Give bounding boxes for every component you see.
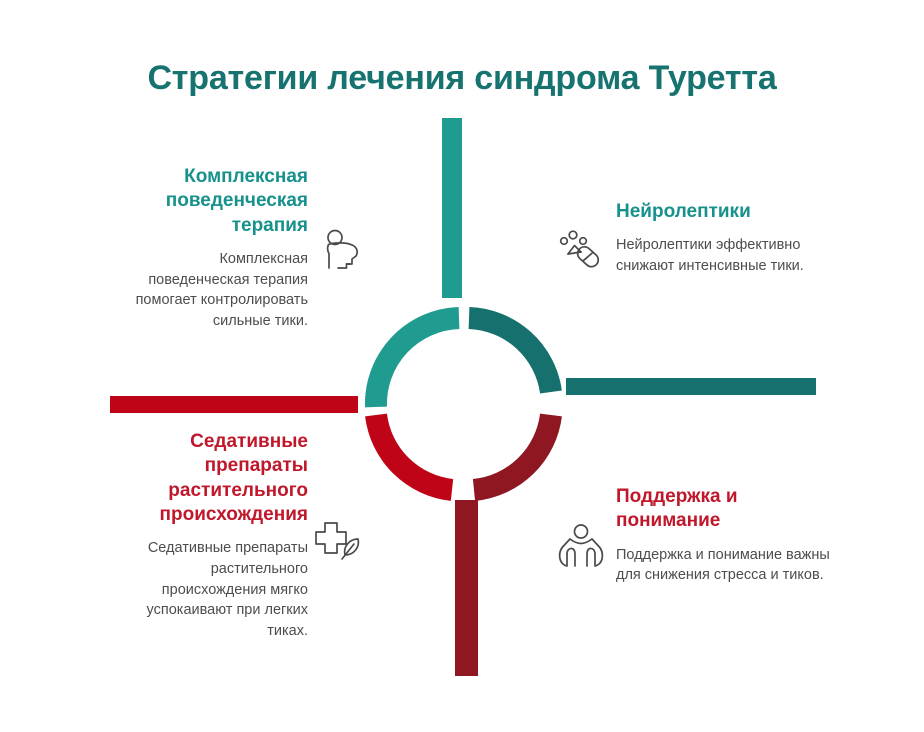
quadrant-neuroleptics-heading: Нейролептики [616, 200, 826, 224]
quadrant-behavioral-heading: Комплексная поведенческая терапия [118, 165, 308, 238]
quadrant-sedatives-heading: Седативные препараты растительного проис… [110, 430, 308, 527]
pills-icon [556, 228, 604, 276]
quadrant-neuroleptics: Нейролептики Нейролептики эффективно сни… [616, 200, 826, 277]
ring-arc-support [474, 415, 551, 490]
quadrant-support: Поддержка и понимание Поддержка и понима… [616, 485, 831, 586]
quadrant-support-body: Поддержка и понимание важны для снижения… [616, 545, 831, 586]
connector-left [110, 396, 358, 413]
ring-arc-behavioral [376, 318, 459, 407]
support-hands-icon [556, 523, 606, 571]
quadrant-behavioral: Комплексная поведенческая терапия Компле… [118, 165, 308, 332]
connector-right [566, 378, 816, 395]
quadrant-behavioral-body: Комплексная поведенческая терапия помога… [118, 249, 308, 332]
quadrant-sedatives-body: Седативные препараты растительного проис… [110, 538, 308, 642]
quadrant-neuroleptics-body: Нейролептики эффективно снижают интенсив… [616, 235, 826, 276]
ring-arc-neuroleptics [469, 318, 551, 392]
quadrant-sedatives: Седативные препараты растительного проис… [110, 430, 308, 642]
ring-arc-sedatives [376, 415, 452, 490]
herbal-medicine-icon [312, 518, 368, 566]
connector-bottom [455, 500, 478, 676]
connector-top [442, 118, 462, 298]
behavioral-therapy-icon [318, 228, 366, 276]
infographic-canvas: Стратегии лечения синдрома Туретта [0, 0, 924, 732]
quadrant-support-heading: Поддержка и понимание [616, 485, 831, 534]
